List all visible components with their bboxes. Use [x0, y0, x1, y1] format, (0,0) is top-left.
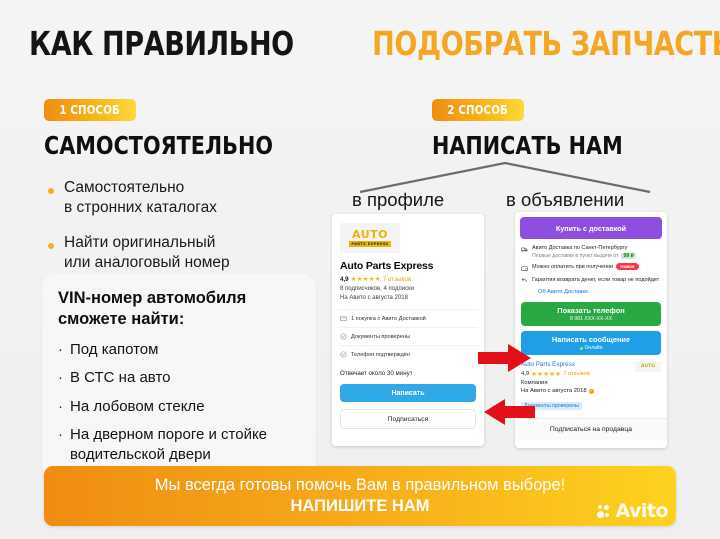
rating-row: 4,9 ★★★★★ 7 отзывов	[340, 275, 484, 283]
list-item: 1 покупка с Авито Доставкой	[338, 310, 478, 328]
online-status-label: Онлайн	[585, 345, 603, 351]
list-item: Гарантия возврата денег, если товар не п…	[521, 277, 661, 285]
rating-value: 4,9	[340, 276, 349, 283]
answer-time: Отвечает около 30 минут	[340, 370, 484, 377]
seller-since: На Авито с августа 2018✓	[521, 388, 661, 394]
bullet-dot-icon	[48, 243, 54, 249]
title-yellow-part: ПОДОБРАТЬ ЗАПЧАСТЬ?	[372, 24, 720, 63]
list-item: ·На дверном пороге и стойке водительской…	[58, 425, 300, 464]
phone-number-masked: 8 981 XXX-XX-XX	[570, 316, 612, 322]
vin-item-text: На лобовом стекле	[70, 397, 205, 417]
list-item: ·На лобовом стекле	[58, 397, 300, 417]
truck-icon	[521, 246, 528, 253]
feature-text: Документы проверены	[351, 334, 410, 340]
reviews-link[interactable]: 7 отзывов	[383, 276, 412, 283]
cta-line-2: НАПИШИТЕ НАМ	[290, 497, 429, 516]
method-one-heading: САМОСТОЯТЕЛЬНО	[44, 131, 320, 160]
buy-with-delivery-button[interactable]: Купить с доставкой	[520, 217, 662, 239]
method-two-heading: НАПИСАТЬ НАМ	[432, 131, 662, 160]
vin-location-list: ·Под капотом ·В СТС на авто ·На лобовом …	[58, 340, 300, 465]
list-item: Можно оплатить при полученииНовое	[521, 264, 661, 272]
vin-item-text: В СТС на авто	[70, 368, 171, 388]
feature-text: Телефон подтверждён	[351, 352, 410, 358]
write-message-label: Написать сообщение	[552, 335, 630, 344]
seller-reviews-link[interactable]: 7 отзывов	[563, 371, 590, 377]
method-one-badge: 1 СПОСОБ	[44, 99, 136, 121]
vin-item-text: Под капотом	[70, 340, 158, 360]
subheading-profile: в профиле	[352, 189, 444, 211]
avito-dots-icon	[597, 503, 613, 519]
vin-card-title: VIN-номер автомобиля сможете найти:	[58, 288, 300, 331]
method-one-bullet-list: Самостоятельно в стронних каталогах Найт…	[44, 178, 324, 288]
subscribe-seller-button[interactable]: Подписаться на продавца	[515, 418, 667, 440]
verified-badge-icon: ✓	[589, 389, 594, 394]
show-phone-label: Показать телефон	[557, 306, 624, 315]
method-one-heading-text: САМОСТОЯТЕЛЬНО	[44, 131, 273, 160]
poster-canvas: КАК ПРАВИЛЬНОПОДОБРАТЬ ЗАПЧАСТЬ? 1 СПОСО…	[0, 0, 720, 539]
member-since: На Авито с августа 2018	[340, 295, 484, 301]
list-item: Авито Доставка по Санкт-Петербургу Первы…	[521, 245, 661, 259]
shop-logo: AUTO PARTS EXPRESS	[340, 223, 400, 253]
pay-on-delivery-label: Можно оплатить при получении	[532, 264, 613, 270]
method-two-heading-text: НАПИСАТЬ НАМ	[432, 131, 623, 160]
bullet-text: Найти оригинальный или аналоговый номер	[64, 233, 230, 274]
seller-type: Компания	[521, 380, 661, 386]
cta-line-1: Мы всегда готовы помочь Вам в правильном…	[155, 476, 566, 495]
list-item: Телефон подтверждён	[338, 346, 478, 363]
followers-count: 8 подписчиков, 4 подписки	[340, 286, 484, 292]
bullet-dot-icon: ·	[58, 340, 63, 360]
bullet-text: Самостоятельно в стронних каталогах	[64, 178, 217, 219]
return-arrow-icon	[521, 277, 528, 284]
delivery-price-text: Первые доставки в пункт выдачи от	[532, 253, 618, 259]
cta-banner[interactable]: Мы всегда готовы помочь Вам в правильном…	[44, 466, 676, 526]
red-left-arrow-icon	[483, 398, 535, 426]
bullet-dot-icon	[48, 188, 54, 194]
check-circle-icon	[340, 351, 347, 358]
subscribe-button[interactable]: Подписаться	[340, 409, 476, 429]
method-two-badge-label: 2 СПОСОБ	[448, 103, 509, 117]
list-item: Документы проверены	[338, 328, 478, 346]
seller-logo: AUTO	[635, 361, 661, 372]
money-back-text: Гарантия возврата денег, если товар не п…	[532, 277, 659, 285]
shop-name: Auto Parts Express	[340, 260, 484, 272]
check-circle-icon	[340, 333, 347, 340]
method-one-badge-label: 1 СПОСОБ	[60, 103, 121, 117]
star-icon: ★★★★★	[351, 275, 381, 283]
show-phone-button[interactable]: Показать телефон 8 981 XXX-XX-XX	[521, 302, 661, 326]
new-badge: Новое	[616, 263, 638, 270]
delivery-info-list: Авито Доставка по Санкт-Петербургу Первы…	[515, 239, 667, 298]
subheading-listing: в объявлении	[506, 189, 624, 211]
page-title: КАК ПРАВИЛЬНОПОДОБРАТЬ ЗАПЧАСТЬ?	[0, 24, 720, 63]
shop-logo-line1: AUTO	[349, 229, 390, 240]
bullet-dot-icon: ·	[58, 397, 63, 417]
bullet-dot-icon: ·	[58, 368, 63, 388]
delivery-region-text: Авито Доставка по Санкт-Петербургу	[532, 245, 636, 252]
pay-on-delivery-text: Можно оплатить при полученииНовое	[532, 264, 639, 272]
feature-text: 1 покупка с Авито Доставкой	[351, 316, 426, 322]
seller-logo-text: AUTO	[641, 364, 655, 369]
seller-since-label: На Авито с августа 2018	[521, 388, 587, 394]
profile-feature-list: 1 покупка с Авито Доставкой Документы пр…	[338, 309, 478, 363]
delivery-price-row: Первые доставки в пункт выдачи от 99 ₽	[532, 253, 636, 259]
vin-info-card: VIN-номер автомобиля сможете найти: ·Под…	[42, 274, 316, 480]
avito-listing-screenshot: Купить с доставкой Авито Доставка по Сан…	[515, 212, 667, 448]
list-item: Самостоятельно в стронних каталогах	[44, 178, 324, 219]
online-dot-icon	[580, 347, 583, 350]
avito-watermark: Avito	[597, 500, 668, 522]
price-pill: 99 ₽	[621, 253, 636, 259]
wallet-icon	[521, 265, 528, 272]
seller-block: AUTO Auto Parts Express 4,9 ★★★★★ 7 отзы…	[515, 355, 667, 412]
list-item: ·Под капотом	[58, 340, 300, 360]
write-button[interactable]: Написать	[340, 384, 476, 402]
bullet-dot-icon: ·	[58, 425, 63, 464]
red-right-arrow-icon	[478, 343, 532, 373]
method-two-badge: 2 СПОСОБ	[432, 99, 524, 121]
shop-logo-line2: PARTS EXPRESS	[349, 241, 390, 247]
online-status: Онлайн	[580, 345, 603, 351]
list-item: Найти оригинальный или аналоговый номер	[44, 233, 324, 274]
list-item: ·В СТС на авто	[58, 368, 300, 388]
delivery-box-icon	[340, 315, 347, 322]
title-black-part: КАК ПРАВИЛЬНО	[29, 24, 294, 63]
avito-profile-screenshot: AUTO PARTS EXPRESS Auto Parts Express 4,…	[332, 214, 484, 446]
about-delivery-link[interactable]: Об Авито Доставке	[538, 289, 661, 295]
write-message-button[interactable]: Написать сообщение Онлайн	[521, 331, 661, 355]
star-icon: ★★★★★	[531, 370, 561, 378]
avito-wordmark: Avito	[615, 500, 668, 522]
vin-item-text: На дверном пороге и стойке водительской …	[70, 425, 300, 464]
